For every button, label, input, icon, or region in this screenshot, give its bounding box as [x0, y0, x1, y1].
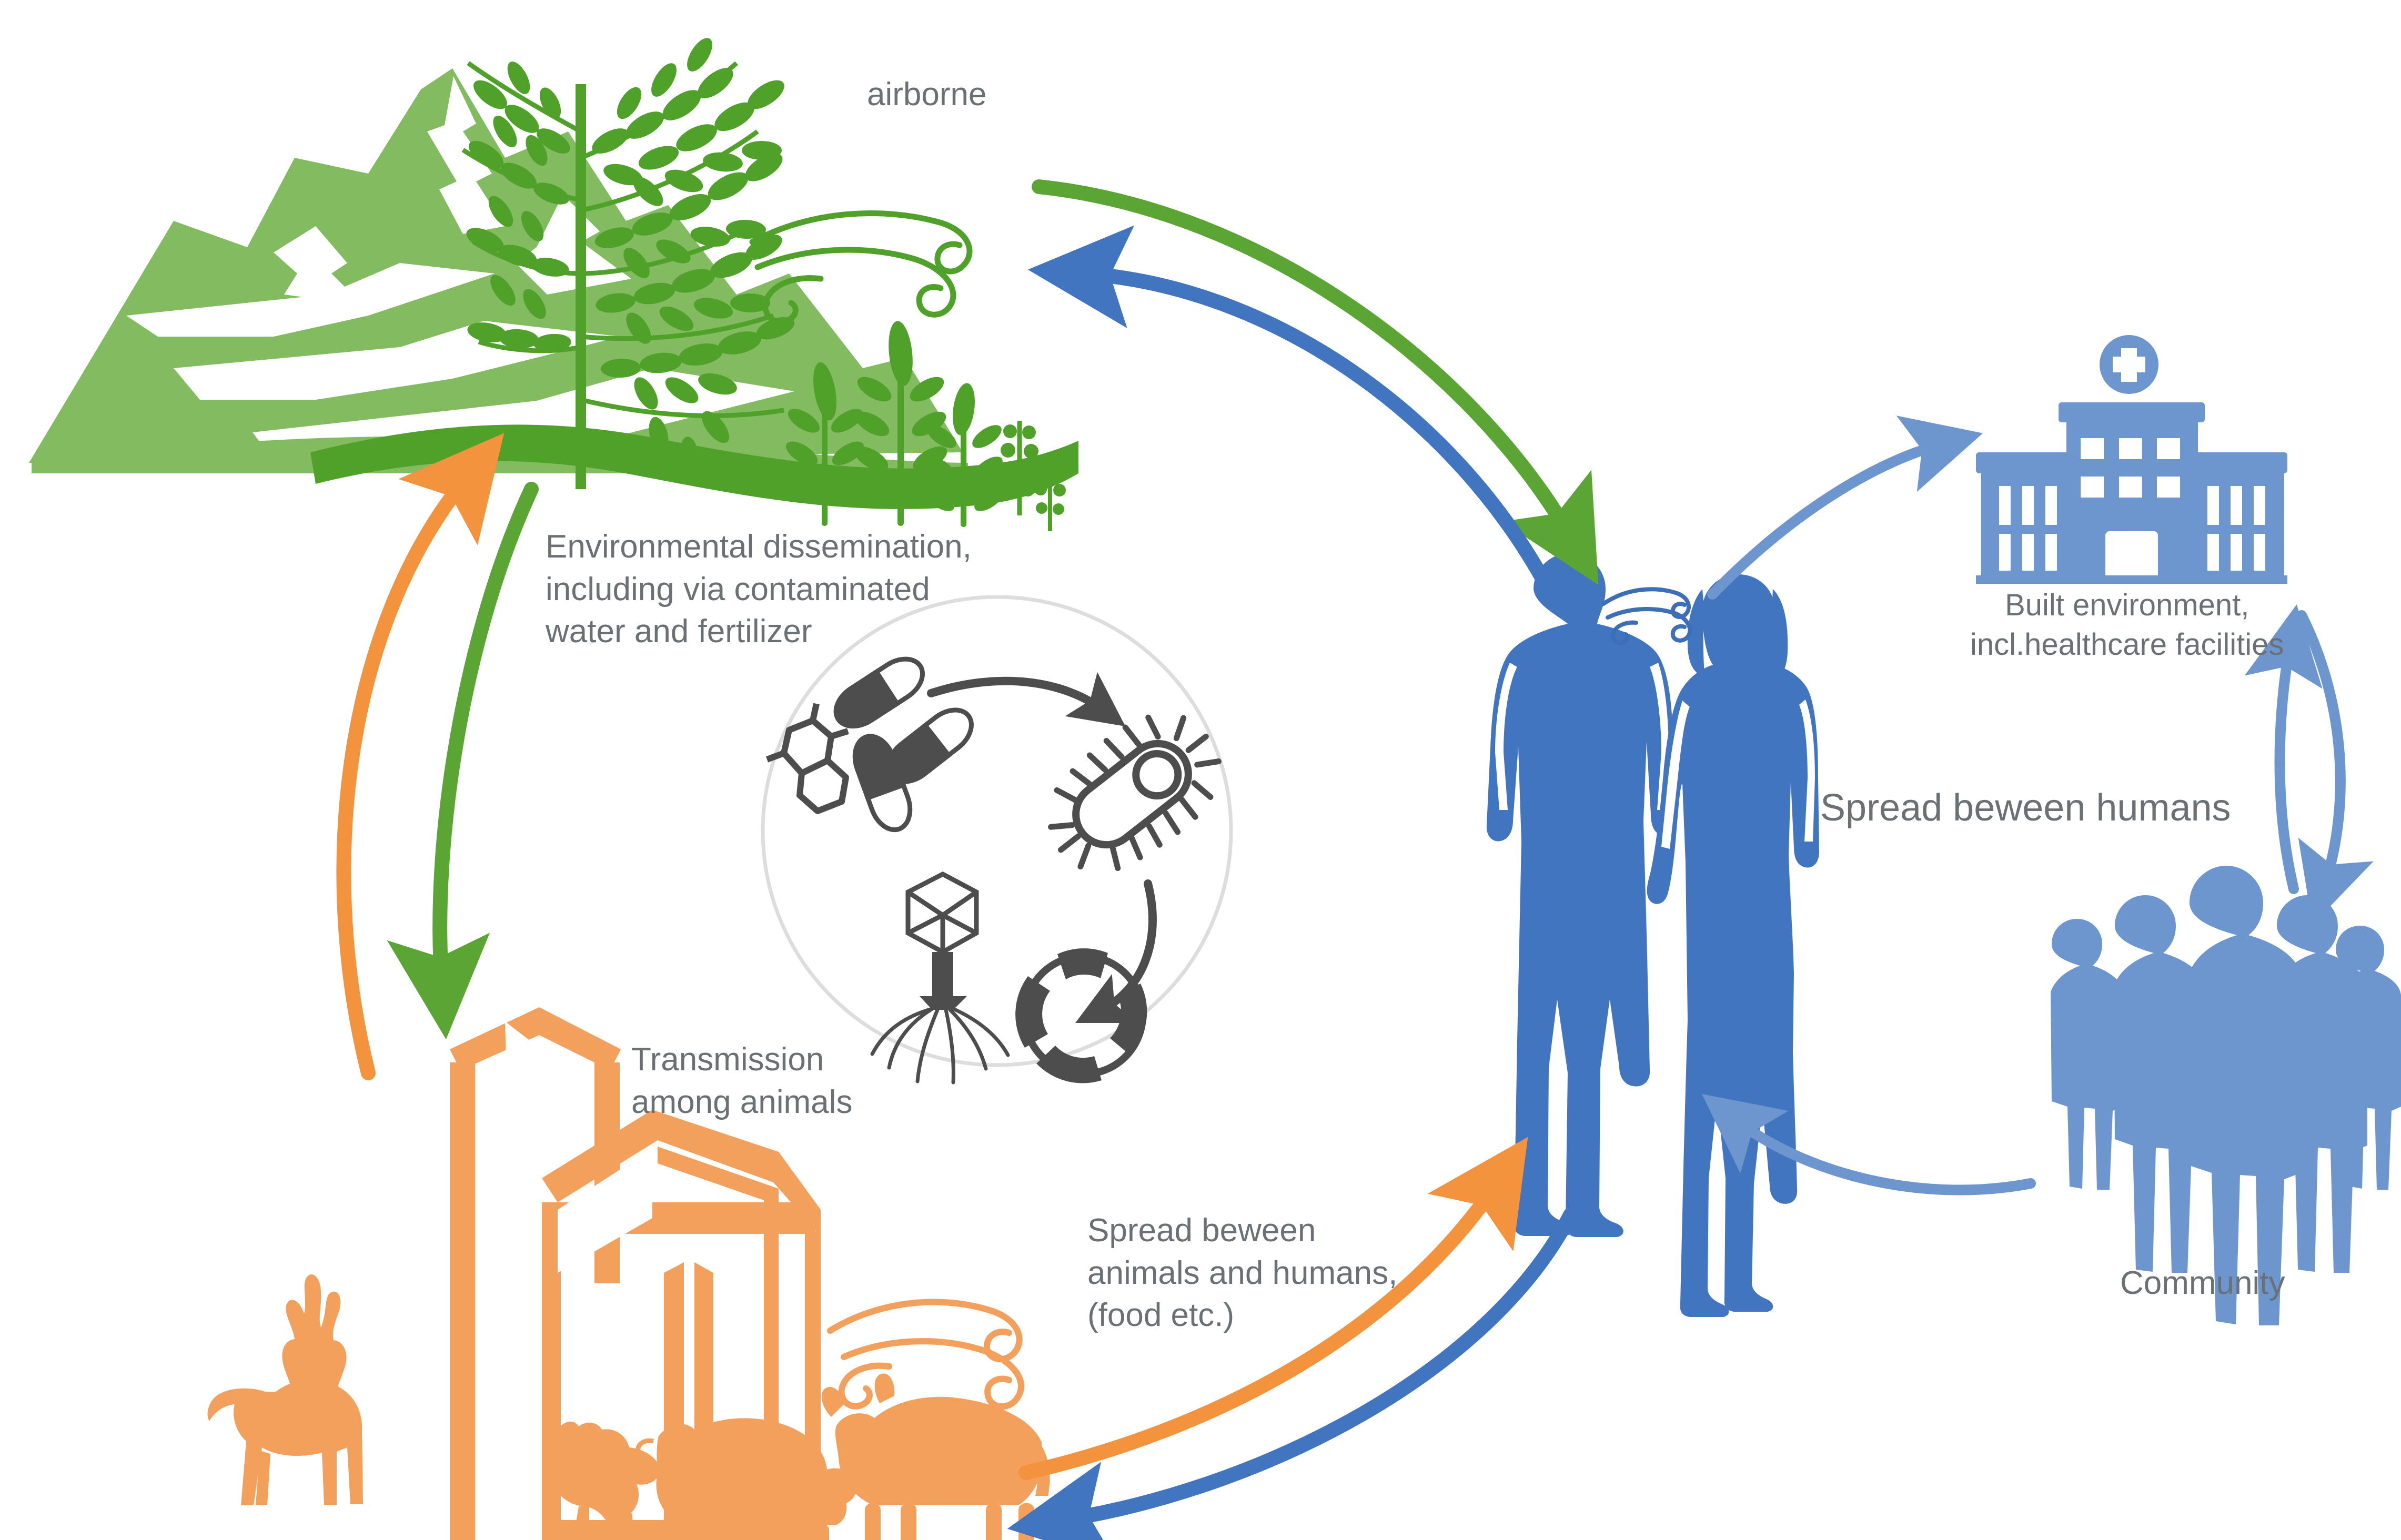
- one-health-diagram-canvas: airborne Environmental dissemination, in…: [0, 0, 2401, 1540]
- airborne-swirl-icon: [830, 1302, 1021, 1407]
- bacterium-icon: [1025, 691, 1242, 896]
- edge-humans-to-environment: [1084, 273, 1544, 581]
- humans-pair-illustration: [1487, 553, 1819, 1317]
- edge-environment-to-animals: [440, 489, 531, 984]
- farm-animals-illustration: [208, 1007, 1050, 1540]
- label-built-environment: Built environment, incl.healthcare facil…: [1970, 585, 2284, 665]
- label-airborne: airborne: [867, 74, 986, 116]
- label-spread-animals-humans: Spread beween animals and humans, (food …: [1087, 1210, 1397, 1337]
- medical-cross-icon: [2100, 335, 2158, 394]
- community-crowd-illustration: [2051, 866, 2401, 1325]
- label-transmission-among-animals: Transmission among animals: [631, 1039, 852, 1123]
- hospital-building-icon: [1976, 335, 2287, 584]
- edge-community-to-hospital: [2280, 647, 2294, 889]
- man-silhouette-icon: [1487, 553, 1675, 1237]
- bacteriophage-icon: [872, 874, 1008, 1082]
- crowd-icon: [2051, 866, 2401, 1325]
- deer-icon: [208, 1274, 363, 1505]
- edge-humans-to-hospital: [1712, 444, 1941, 594]
- label-community: Community: [2120, 1262, 2285, 1305]
- built-environment-illustration: [1976, 335, 2287, 584]
- edge-environment-to-humans: [1039, 187, 1570, 536]
- label-environmental-dissemination: Environmental dissemination, including v…: [546, 526, 972, 653]
- microbe-cycle-circle: [763, 597, 1242, 1083]
- antibiotic-capsules-icon: [828, 650, 980, 835]
- edge-hospital-to-community: [2302, 615, 2341, 884]
- woman-silhouette-icon: [1647, 574, 1819, 1317]
- label-spread-between-humans: Spread beween humans: [1820, 784, 2231, 833]
